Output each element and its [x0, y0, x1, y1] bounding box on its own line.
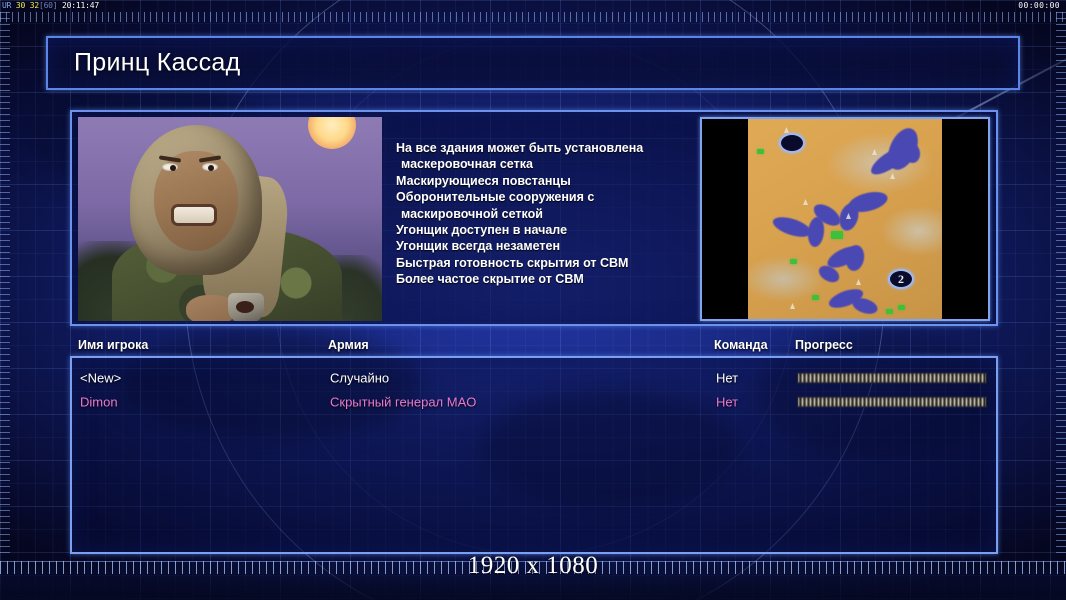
game-screen: UR 30 32[60] 20:11:47 00:00:00 Принц Кас…: [0, 0, 1066, 600]
minimap-unit: [890, 173, 895, 179]
ability-line: маскеровочная сетка: [396, 156, 696, 172]
minimap-terrain: 2: [748, 119, 942, 319]
minimap-unit: [784, 127, 789, 133]
ability-line: Угонщик доступен в начале: [396, 222, 696, 238]
perf-cap: [60]: [39, 1, 57, 10]
top-overlay-bar: UR 30 32[60] 20:11:47 00:00:00: [0, 0, 1066, 12]
minimap-start-position[interactable]: 2: [888, 269, 914, 289]
minimap-frame[interactable]: 2: [700, 117, 990, 321]
header-team: Команда: [714, 338, 768, 352]
general-ability-list: На все здания может быть установленамаск…: [396, 140, 696, 288]
perf-fps: 30: [16, 1, 25, 10]
title-panel: Принц Кассад: [46, 36, 1020, 90]
minimap-water: [850, 295, 879, 316]
ruler-left: [0, 12, 10, 556]
player-row[interactable]: DimonСкрытный генерал MAOНет: [72, 390, 996, 414]
player-progress-bar: [797, 373, 987, 384]
player-team-cell[interactable]: Нет: [716, 395, 738, 410]
player-progress-bar: [797, 397, 987, 408]
portrait-pupil-left: [170, 165, 176, 171]
game-timer: 00:00:00: [1018, 0, 1060, 12]
minimap-resource: [831, 231, 843, 239]
minimap-resource: [790, 259, 797, 264]
ability-line: маскировочной сеткой: [396, 206, 696, 222]
portrait-teeth: [174, 207, 214, 223]
player-list-headers: Имя игрока Армия Команда Прогресс: [70, 338, 998, 356]
header-player-name: Имя игрока: [78, 338, 148, 352]
player-team-cell[interactable]: Нет: [716, 371, 738, 386]
minimap-resource: [757, 149, 764, 154]
portrait-pupil-right: [208, 165, 214, 171]
player-name-cell[interactable]: <New>: [80, 371, 121, 386]
minimap-unit: [872, 149, 877, 155]
ability-line: Маскирующиеся повстанцы: [396, 173, 696, 189]
ability-line: Оборонительные сооружения с: [396, 189, 696, 205]
resolution-label: 1920 x 1080: [0, 552, 1066, 580]
general-portrait-image: [78, 117, 382, 321]
perf-prefix: UR: [2, 1, 11, 10]
minimap-unit: [803, 199, 808, 205]
portrait-teapot-opening: [236, 301, 254, 313]
minimap-resource: [812, 295, 819, 300]
player-army-cell[interactable]: Случайно: [330, 371, 389, 386]
header-army: Армия: [328, 338, 369, 352]
performance-stats: UR 30 32[60] 20:11:47: [2, 0, 99, 12]
general-info-panel: На все здания может быть установленамаск…: [70, 110, 998, 326]
player-row[interactable]: <New>СлучайноНет: [72, 366, 996, 390]
header-progress: Прогресс: [795, 338, 853, 352]
perf-fps2: 32: [30, 1, 39, 10]
minimap-start-position[interactable]: [779, 133, 805, 153]
minimap-unit: [790, 303, 795, 309]
player-list-panel: <New>СлучайноНетDimonСкрытный генерал MA…: [70, 356, 998, 554]
ruler-right: [1056, 12, 1066, 556]
player-name-cell[interactable]: Dimon: [80, 395, 118, 410]
ruler-top: [0, 12, 1066, 22]
minimap-unit: [856, 279, 861, 285]
minimap-resource: [886, 309, 893, 314]
player-army-cell[interactable]: Скрытный генерал MAO: [330, 395, 476, 410]
ability-line: Более частое скрытие от СВМ: [396, 271, 696, 287]
ability-line: Угонщик всегда незаметен: [396, 238, 696, 254]
ability-line: Быстрая готовность скрытия от СВМ: [396, 255, 696, 271]
minimap-resource: [898, 305, 905, 310]
perf-clock: 20:11:47: [62, 1, 99, 10]
general-name-title: Принц Кассад: [74, 49, 240, 78]
ability-line: На все здания может быть установлена: [396, 140, 696, 156]
